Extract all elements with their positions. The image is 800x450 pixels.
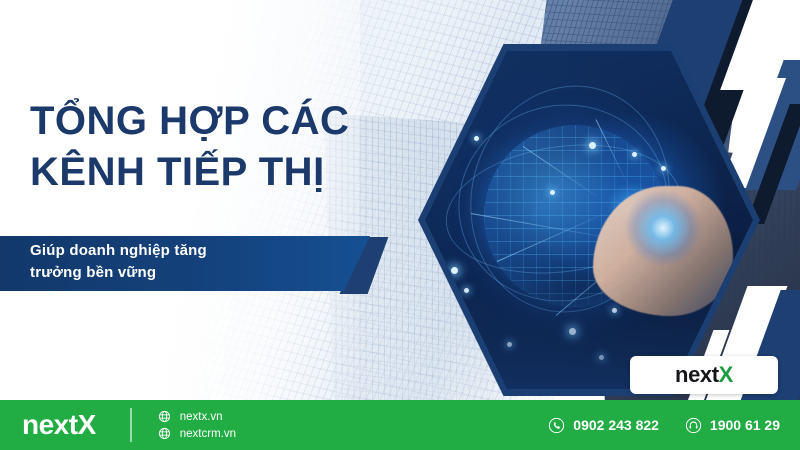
page-title: TỔNG HỢP CÁC KÊNH TIẾP THỊ (30, 96, 450, 198)
finger-glow-effect (625, 190, 701, 266)
website-label: nextcrm.vn (180, 428, 236, 440)
left-white-fade (0, 0, 360, 400)
hexagon-image (425, 51, 753, 389)
website-link-nextcrm[interactable]: nextcrm.vn (158, 427, 236, 440)
footer-bar: nextX nextx.vn next (0, 400, 800, 450)
nextx-badge: nextX (630, 356, 778, 394)
phone-number-hotline[interactable]: 1900 61 29 (685, 417, 780, 434)
badge-logo-text: nextX (675, 362, 733, 388)
globe-icon (158, 427, 171, 440)
footer-websites: nextx.vn nextcrm.vn (158, 410, 236, 440)
website-link-nextx[interactable]: nextx.vn (158, 410, 236, 423)
headline-line-1: TỔNG HỢP CÁC (30, 99, 349, 143)
subtitle-line-2: trưởng bền vững (30, 262, 350, 284)
badge-brand: next (675, 362, 719, 387)
network-node (451, 267, 458, 274)
subtitle-line-1: Giúp doanh nghiệp tăng (30, 242, 207, 259)
phone-label: 0902 243 822 (573, 417, 659, 433)
network-node (474, 136, 479, 141)
phone-icon (548, 417, 565, 434)
footer-divider (130, 408, 132, 442)
subtitle-text: Giúp doanh nghiệp tăng trưởng bền vững (30, 240, 350, 284)
network-node (550, 190, 555, 195)
hero-hexagon (418, 44, 760, 396)
headset-icon (685, 417, 702, 434)
marketing-banner: TỔNG HỢP CÁC KÊNH TIẾP THỊ Giúp doanh ng… (0, 0, 800, 450)
globe-icon (158, 410, 171, 423)
phone-label: 1900 61 29 (710, 417, 780, 433)
badge-brand-accent: X (719, 362, 733, 387)
footer-logo: nextX (22, 409, 96, 441)
footer-phones: 0902 243 822 1900 61 29 (548, 417, 780, 434)
headline-line-2: KÊNH TIẾP THỊ (30, 147, 450, 198)
phone-number-mobile[interactable]: 0902 243 822 (548, 417, 659, 434)
website-label: nextx.vn (180, 411, 223, 423)
